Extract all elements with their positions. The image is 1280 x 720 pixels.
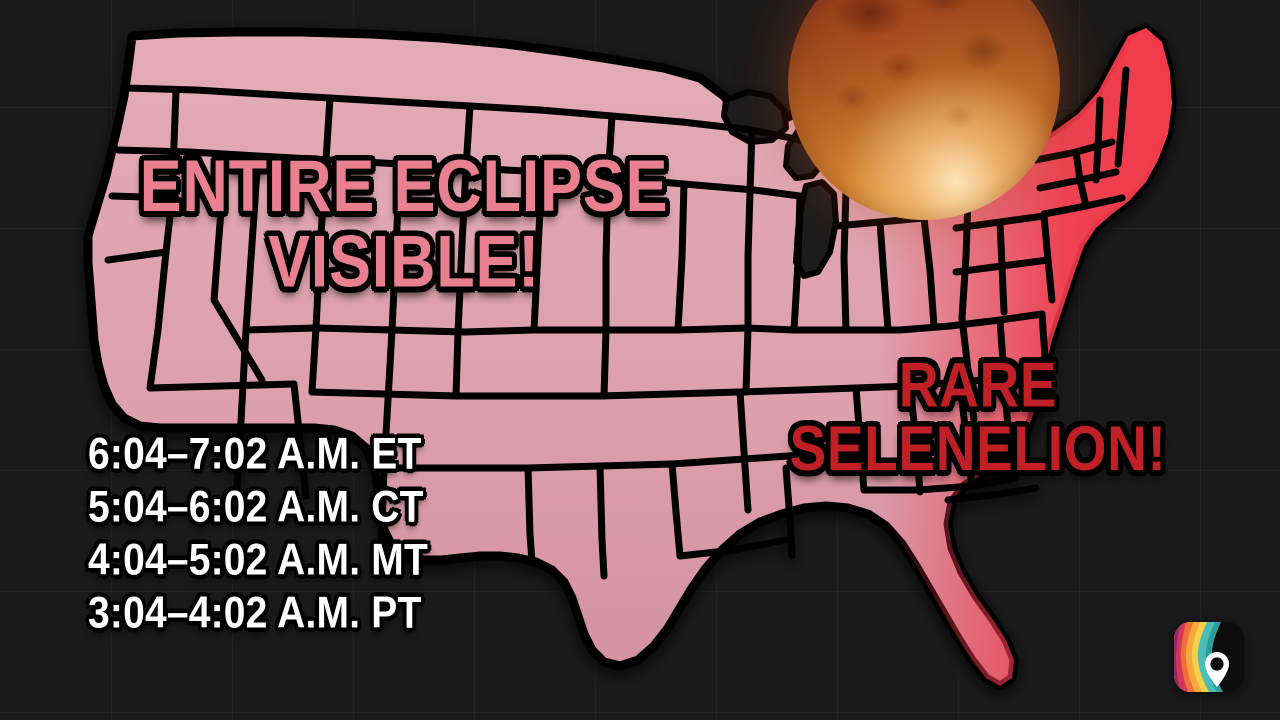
time-row: 5:04–6:02 A.M. CT (88, 485, 428, 529)
eclipse-headline-line-1: ENTIRE ECLIPSE (104, 152, 704, 223)
weather-radar-app-logo[interactable] (1171, 619, 1247, 695)
selenelion-headline-line-1: RARE (718, 355, 1238, 416)
eclipse-visible-headline: ENTIRE ECLIPSE VISIBLE! (104, 152, 704, 298)
selenelion-headline: RARE SELENELION! (718, 355, 1238, 480)
time-row: 3:04–4:02 A.M. PT (88, 591, 428, 635)
eclipse-times-list: 6:04–7:02 A.M. ET 5:04–6:02 A.M. CT 4:04… (88, 432, 428, 630)
time-row: 6:04–7:02 A.M. ET (88, 432, 428, 476)
eclipse-visibility-graphic: ENTIRE ECLIPSE VISIBLE! RARE SELENELION!… (0, 0, 1280, 720)
time-row: 4:04–5:02 A.M. MT (88, 538, 428, 582)
selenelion-headline-line-2: SELENELION! (718, 419, 1238, 480)
eclipse-headline-line-2: VISIBLE! (104, 228, 704, 299)
